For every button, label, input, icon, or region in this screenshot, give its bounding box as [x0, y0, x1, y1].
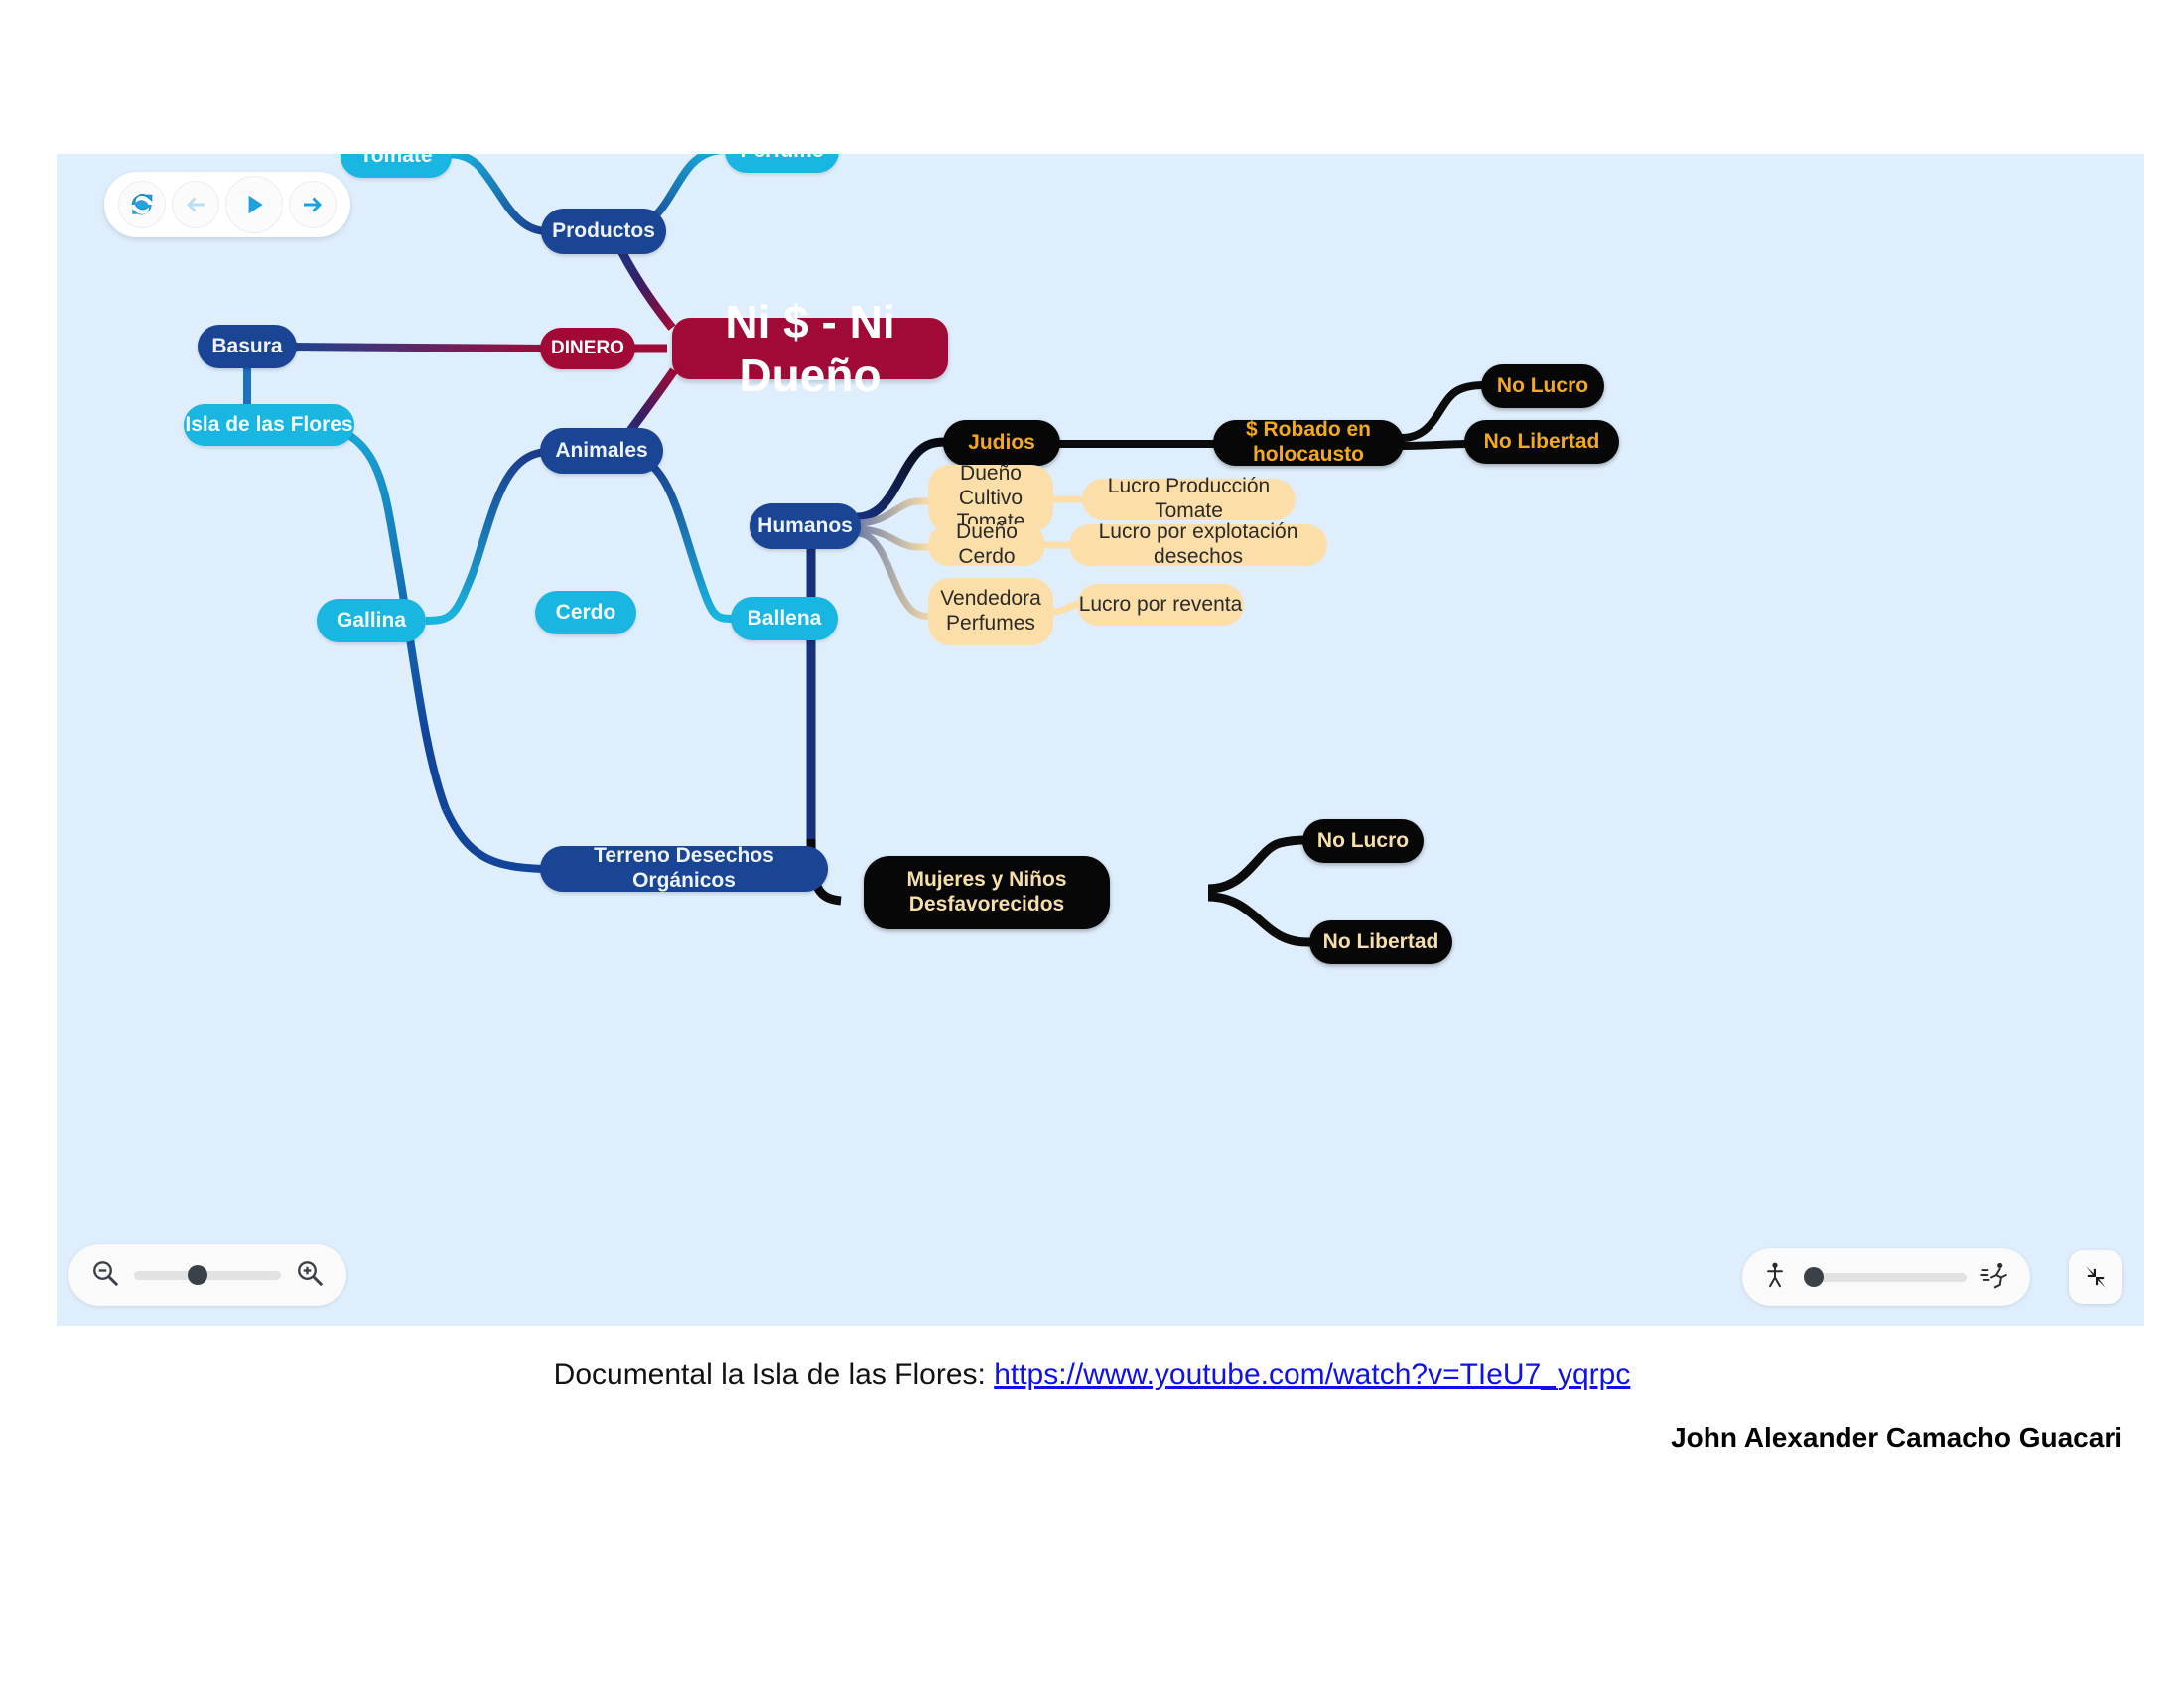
- node-animales[interactable]: Animales: [540, 428, 663, 474]
- zoom-slider-thumb[interactable]: [188, 1265, 207, 1285]
- play-icon[interactable]: [225, 176, 283, 233]
- node-vendedora-perfumes[interactable]: Vendedora Perfumes: [928, 578, 1053, 645]
- node-basura[interactable]: Basura: [198, 325, 297, 368]
- running-person-icon: [1980, 1260, 2012, 1295]
- node-judios[interactable]: Judios: [943, 420, 1060, 466]
- node-gallina[interactable]: Gallina: [317, 599, 426, 642]
- node-no-libertad-holocausto[interactable]: No Libertad: [1464, 420, 1619, 464]
- node-lucro-explotacion-desechos[interactable]: Lucro por explotación desechos: [1069, 524, 1327, 566]
- speed-slider-thumb[interactable]: [1804, 1267, 1824, 1287]
- youtube-link[interactable]: https://www.youtube.com/watch?v=TIeU7_yq…: [994, 1358, 1630, 1391]
- node-lucro-por-reventa[interactable]: Lucro por reventa: [1077, 584, 1244, 626]
- caption-prefix: Documental la Isla de las Flores:: [554, 1358, 995, 1391]
- node-tomate[interactable]: Tomate: [341, 154, 452, 178]
- arrow-left-icon[interactable]: [172, 181, 219, 228]
- zoom-in-icon[interactable]: [295, 1258, 325, 1293]
- documentary-caption: Documental la Isla de las Flores: https:…: [0, 1358, 2184, 1392]
- node-no-lucro-holocausto[interactable]: No Lucro: [1481, 364, 1604, 408]
- node-mujeres-ninos-desfavorecidos[interactable]: Mujeres y Niños Desfavorecidos: [864, 856, 1110, 929]
- refresh-icon[interactable]: [118, 181, 166, 228]
- walking-person-icon: [1760, 1260, 1790, 1295]
- node-dueno-cerdo[interactable]: Dueño Cerdo: [928, 524, 1045, 566]
- node-humanos[interactable]: Humanos: [750, 503, 861, 549]
- arrow-right-icon[interactable]: [289, 181, 337, 228]
- mindmap-canvas[interactable]: Ni $ - Ni Dueño DINERO Basura Isla de la…: [57, 154, 2144, 1326]
- collapse-button[interactable]: [2069, 1250, 2122, 1304]
- node-terreno-desechos-organicos[interactable]: Terreno Desechos Orgánicos: [540, 846, 828, 892]
- zoom-slider-control[interactable]: [68, 1244, 346, 1306]
- speed-slider-track[interactable]: [1804, 1273, 1967, 1282]
- zoom-slider-track[interactable]: [134, 1271, 281, 1280]
- node-productos[interactable]: Productos: [541, 209, 666, 254]
- zoom-out-icon[interactable]: [90, 1258, 120, 1293]
- node-dinero[interactable]: DINERO: [540, 328, 635, 369]
- node-lucro-produccion-tomate[interactable]: Lucro Producción Tomate: [1082, 479, 1296, 520]
- node-isla-de-las-flores[interactable]: Isla de las Flores: [184, 404, 354, 446]
- node-no-libertad-mujeres[interactable]: No Libertad: [1309, 920, 1452, 964]
- node-perfume[interactable]: Perfume: [725, 154, 839, 173]
- playback-toolbar[interactable]: [104, 172, 350, 237]
- speed-slider-control[interactable]: [1742, 1248, 2030, 1306]
- node-no-lucro-mujeres[interactable]: No Lucro: [1302, 819, 1424, 863]
- node-robado-en-holocausto[interactable]: $ Robado en holocausto: [1213, 420, 1404, 466]
- node-root[interactable]: Ni $ - Ni Dueño: [672, 318, 948, 379]
- node-ballena[interactable]: Ballena: [731, 597, 838, 640]
- author-name: John Alexander Camacho Guacari: [1671, 1422, 2122, 1454]
- node-cerdo[interactable]: Cerdo: [535, 591, 636, 634]
- edge-connectors: [57, 154, 2144, 1326]
